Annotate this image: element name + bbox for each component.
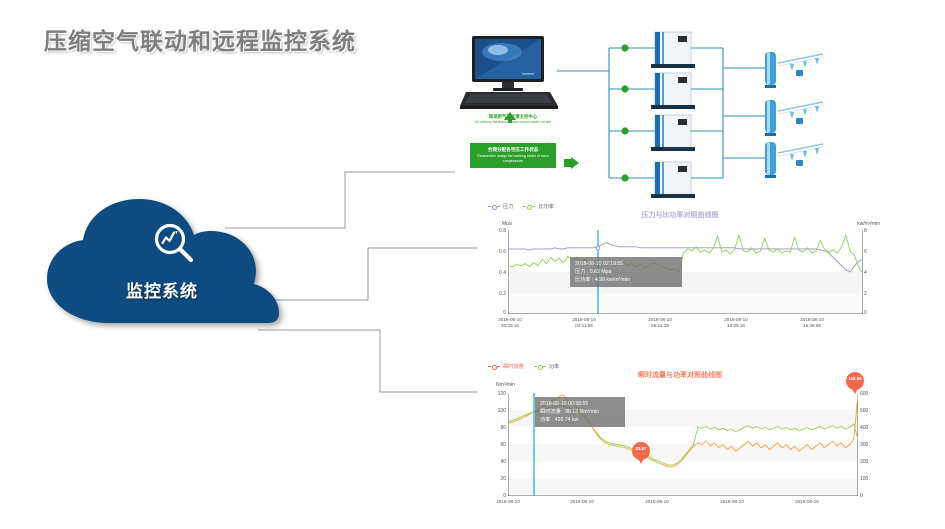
chart2-tooltip-line1: 瞬时流量 : 98.13 Nm³/min [540,408,620,416]
chart1-ytick-l4: 0 [484,310,506,316]
chart1-xtick-3: 2018-08-10 12:35:15 [712,317,760,328]
chart2-tooltip-time: 2018-08-10 00:38:55 [540,400,620,408]
chart2-ytick-l2: 80 [484,425,506,431]
pin-body-icon [632,442,650,460]
legend-marker-icon [488,366,500,368]
cloud-label: 监控系统 [37,277,287,302]
chart2-ytick-r0: 600 [860,391,876,397]
legend-marker-icon [534,366,546,368]
diagram-note-cn: 合理分配各空压工作状态 [473,147,553,153]
monitoring-cloud[interactable]: 监控系统 [37,195,287,330]
magnifier-chart-icon [150,220,198,273]
chart2-ytick-l1: 100 [484,408,506,414]
svg-text:screen: screen [522,71,534,76]
legend-marker-icon [488,206,500,208]
chart1-legend-label-1: 比功率 [538,203,554,210]
chart1-ytick-r1: 6 [864,249,876,255]
chart1-xtick-3-date: 2018-08-10 [724,317,748,322]
chart1-xtick-4-date: 2018-08-10 [800,317,824,322]
chart1-xtick-2-time: 08:21:35 [651,323,669,328]
chart1-xtick-2-date: 2018-08-10 [648,317,672,322]
chart1-plot[interactable] [508,230,863,314]
chart2-legend-item-flow[interactable]: 瞬时流量 [488,363,524,370]
chart1-ytick-r0: 8 [864,228,876,234]
chart1-title: 压力与比功率对照曲线图 [478,210,882,220]
chart1-xtick-0: 2018-08-10 00:00:15 [486,317,534,328]
chart2-legend-label-1: 功率 [549,363,559,370]
chart1-xtick-4: 2018-08-10 16:46:55 [788,317,836,328]
chart1-xtick-1-date: 2018-08-10 [572,317,596,322]
chart2-ytick-l0: 120 [484,391,506,397]
chart1-ytick-l3: 0.2 [484,291,506,297]
chart1-xtick-1: 2018-08-10 04:11:55 [560,317,608,328]
flow-power-chart[interactable]: 瞬时流量 功率 瞬时流量与功率对照曲线图 Nm³/min 120 100 80 … [478,360,882,528]
chart1-xtick-0-time: 00:00:15 [501,323,519,328]
chart1-ytick-l2: 0.4 [484,270,506,276]
pressure-power-chart[interactable]: 压力 比功率 压力与比功率对照曲线图 Mpa kw/m³/min 0.8 0.6… [478,200,882,337]
chart2-ytick-r3: 300 [860,442,876,448]
chart2-xtick-3: 2018-08-10 [708,499,756,505]
chart1-y-left-unit: Mpa [502,221,512,227]
chart1-tooltip-time: 2018-08-10 02:19:55 [575,260,677,268]
chart1-ytick-r3: 2 [864,291,876,297]
diagram-caption: 现场用气量反馈主控中心 Air delivery feedback of mai… [466,114,560,124]
chart2-y-left-unit: Nm³/min [496,382,515,388]
chart1-tooltip-line2: 比功率 : 4.99 kw/m³/min [575,276,677,284]
chart2-xtick-1: 2018-08-10 [558,499,606,505]
chart2-ytick-r1: 500 [860,408,876,414]
chart2-tooltip: 2018-08-10 00:38:55 瞬时流量 : 98.13 Nm³/min… [535,397,625,427]
chart2-tooltip-line2: 功率 : 493.74 kw [540,416,620,424]
chart2-ytick-r2: 400 [860,425,876,431]
diagram-note-en: Reasonable assign the working states of … [473,154,553,163]
chart1-y-right-unit: kw/m³/min [857,221,880,227]
chart2-legend: 瞬时流量 功率 [488,363,559,370]
chart1-xtick-1-time: 04:11:55 [575,323,593,328]
chart2-ytick-l4: 40 [484,459,506,465]
system-diagram: screen 现场用气量反馈主控中心 Air delivery feedback… [452,26,942,206]
chart2-ytick-r6: 0 [860,493,876,499]
chart2-xtick-2: 2018-08-10 [633,499,681,505]
chart2-marker-high-value: 118.55 [846,376,864,381]
chart1-ytick-l0: 0.8 [484,228,506,234]
chart1-ytick-l1: 0.6 [484,249,506,255]
pin-body-icon [846,372,864,390]
chart1-xtick-3-time: 12:35:15 [727,323,745,328]
chart2-marker-low-value: 33.87 [632,446,650,451]
chart1-tooltip: 2018-08-10 02:19:55 压力 : 0.63 Mpa 比功率 : … [570,257,682,287]
chart1-xtick-0-date: 2018-08-10 [498,317,522,322]
chart1-legend-item-pressure[interactable]: 压力 [488,203,513,210]
chart1-tooltip-line1: 压力 : 0.63 Mpa [575,268,677,276]
chart1-ytick-r4: 0 [864,310,876,316]
chart1-xtick-2: 2018-08-10 08:21:35 [636,317,684,328]
legend-marker-icon [523,206,535,208]
chart1-ytick-r2: 4 [864,270,876,276]
chart2-legend-label-0: 瞬时流量 [503,363,524,370]
chart1-legend: 压力 比功率 [488,203,554,210]
chart1-legend-item-specific-power[interactable]: 比功率 [523,203,554,210]
chart1-legend-label-0: 压力 [503,203,513,210]
diagram-caption-en: Air delivery feedback of main control ce… [466,120,560,124]
slide-root: 压缩空气联动和远程监控系统 监控系统 [0,0,945,529]
chart2-ytick-r5: 100 [860,476,876,482]
chart2-legend-item-power[interactable]: 功率 [534,363,559,370]
chart2-title: 瞬时流量与功率对照曲线图 [478,370,882,380]
piping-schematic [547,26,945,206]
chart2-ytick-r4: 200 [860,459,876,465]
chart2-xtick-0: 2018-08-10 [484,499,532,505]
chart2-ytick-l3: 60 [484,442,506,448]
chart2-xtick-4: 2018-08-10 [783,499,831,505]
chart1-xtick-4-time: 16:46:55 [803,323,821,328]
diagram-note-box: 合理分配各空压工作状态 Reasonable assign the workin… [470,143,556,168]
chart2-ytick-l5: 20 [484,476,506,482]
